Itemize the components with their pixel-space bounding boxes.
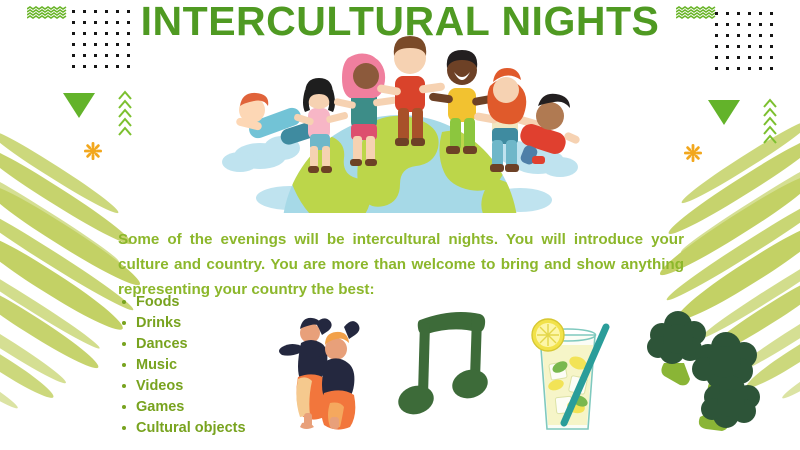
music-note-illustration [398, 308, 498, 423]
flower-icon-right [684, 144, 701, 161]
dancers-illustration [268, 305, 388, 430]
flower-icon-left [84, 142, 101, 159]
drink-illustration [520, 305, 615, 435]
slide-canvas: INTERCULTURAL NIGHTS [0, 0, 800, 450]
chevron-stack-right [762, 98, 778, 146]
globe-illustration [220, 28, 580, 213]
broccoli-illustration [638, 305, 763, 435]
chevron-stack-left [117, 90, 133, 138]
down-triangle-left [63, 93, 95, 118]
body-paragraph: Some of the evenings will be intercultur… [118, 227, 684, 302]
down-triangle-right [708, 100, 740, 125]
